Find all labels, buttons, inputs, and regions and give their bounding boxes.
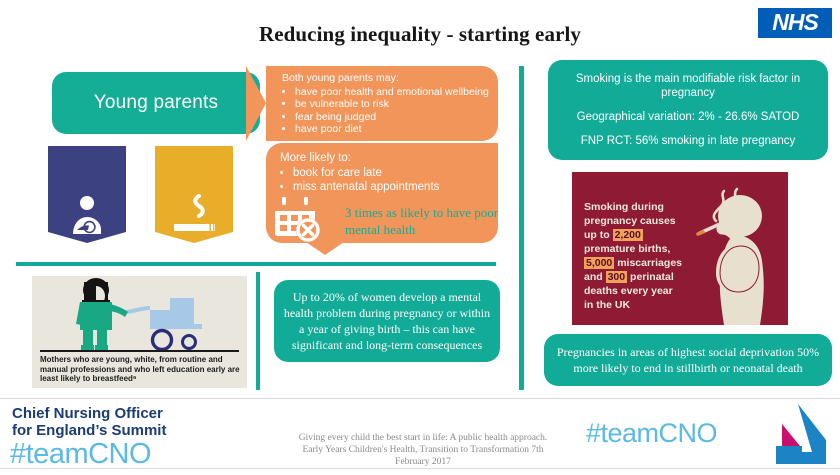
- pregnancy-card-text: Smoking during pregnancy causes up to 2,…: [584, 200, 702, 312]
- list-item: be vulnerable to risk: [295, 98, 492, 111]
- callout-top-text: Both young parents may: have poor health…: [282, 72, 492, 136]
- cno-title-line-2: for England’s Summit: [12, 422, 166, 439]
- preg-line-5-post: miscarriages: [614, 257, 682, 269]
- callout-bottom-lead: More likely to:: [280, 151, 492, 165]
- young-parents-label: Young parents: [94, 92, 218, 114]
- pennant-text: 1/3 less likely to breastfeed: [56, 153, 124, 192]
- callout-both-young-parents: Both young parents may: have poor health…: [266, 66, 498, 141]
- citation-line-2: Early Years Children's Health, Transitio…: [268, 444, 578, 456]
- caption-rule: [40, 350, 239, 352]
- smoking-risk-lines: Smoking is the main modifiable risk fact…: [548, 72, 828, 148]
- smoking-pregnancy-infographic: Smoking during pregnancy causes up to 2,…: [572, 172, 788, 325]
- stat-sub-line-2: to smoke: [163, 179, 231, 192]
- cigarette-icon: [170, 194, 218, 236]
- stat-sub-line-2: breastfeed: [56, 179, 124, 192]
- page-title: Reducing inequality - starting early: [120, 22, 720, 47]
- footer: Chief Nursing Officer for England’s Summ…: [0, 398, 840, 475]
- stat-pennant-breastfeed: 1/3 less likely to breastfeed: [48, 146, 126, 242]
- list-item: miss antenatal appointments: [293, 180, 492, 194]
- cno-hashtag-right: #teamCNO: [586, 420, 717, 447]
- mother-with-pram-illustration: [32, 276, 247, 352]
- list-item: book for care late: [293, 166, 492, 180]
- young-parents-pill: Young parents: [52, 72, 260, 134]
- mental-health-box: Up to 20% of women develop a mental heal…: [274, 280, 500, 362]
- callout-arrow-icon: [246, 66, 266, 141]
- preg-highlight-5000: 5,000: [584, 257, 614, 269]
- citation-line-1: Giving every child the best start in lif…: [268, 432, 578, 444]
- list-item: fear being judged: [295, 111, 492, 124]
- nhs-logo: NHS: [758, 8, 832, 38]
- preg-line-7: deaths every year: [584, 285, 673, 297]
- preg-line-2: pregnancy causes: [584, 215, 676, 227]
- stat-value: 1/3 less: [56, 153, 124, 166]
- callout-bottom-text: More likely to: book for care late miss …: [280, 151, 492, 194]
- callout-bottom-list: book for care late miss antenatal appoin…: [280, 166, 492, 194]
- preg-line-6-pre: and: [584, 271, 606, 283]
- horizontal-divider-left: [16, 262, 496, 266]
- cno-hashtag-left: #teamCNO: [10, 440, 151, 469]
- smoking-risk-line-1: Smoking is the main modifiable risk fact…: [548, 72, 828, 100]
- callout-top-list: have poor health and emotional wellbeing…: [282, 86, 492, 136]
- pennant-text: 3 times more likely to smoke: [163, 153, 231, 192]
- cno-title-line-1: Chief Nursing Officer: [12, 405, 166, 422]
- slide-canvas: Reducing inequality - starting early NHS…: [0, 0, 840, 474]
- nhs-logo-text: NHS: [772, 11, 818, 34]
- preg-highlight-2200: 2,200: [613, 229, 643, 241]
- preg-line-3-pre: up to: [584, 229, 613, 241]
- list-item: have poor diet: [295, 123, 492, 136]
- stat-sub-line-1: likely to: [56, 166, 124, 179]
- cno-summit-title: Chief Nursing Officer for England’s Summ…: [12, 405, 166, 439]
- vertical-divider-mid: [256, 272, 260, 390]
- stat-pennant-smoke: 3 times more likely to smoke: [155, 146, 233, 242]
- list-item: have poor health and emotional wellbeing: [295, 86, 492, 99]
- citation-line-3: February 2017: [268, 456, 578, 468]
- preg-line-6-post: perinatal: [627, 271, 674, 283]
- preg-line-4: premature births,: [584, 243, 670, 255]
- preg-line-1: Smoking during: [584, 201, 664, 213]
- smoking-risk-box: Smoking is the main modifiable risk fact…: [548, 60, 828, 160]
- photo-caption: Mothers who are young, white, from routi…: [40, 355, 240, 384]
- stat-value: 3 times: [163, 153, 231, 166]
- callout-top-lead: Both young parents may:: [282, 72, 492, 85]
- calendar-cross-icon: [272, 196, 324, 244]
- preg-line-8: in the UK: [584, 299, 630, 311]
- stat-sub-line-1: more likely: [163, 166, 231, 179]
- brand-arrow-logo: [760, 402, 826, 466]
- citation: Giving every child the best start in lif…: [268, 432, 578, 468]
- breastfeeding-photo-card: Mothers who are young, white, from routi…: [32, 276, 247, 388]
- deprivation-box: Pregnancies in areas of highest social d…: [544, 334, 832, 386]
- smoking-risk-line-2: Geographical variation: 2% - 26.6% SATOD: [548, 110, 828, 124]
- smoking-risk-line-3: FNP RCT: 56% smoking in late pregnancy: [548, 134, 828, 148]
- preg-highlight-300: 300: [606, 271, 628, 283]
- mental-health-stat-line: 3 times as likely to have poor mental he…: [345, 204, 520, 238]
- footer-bottom-rule: [0, 468, 840, 469]
- breastfeeding-icon: [64, 196, 110, 236]
